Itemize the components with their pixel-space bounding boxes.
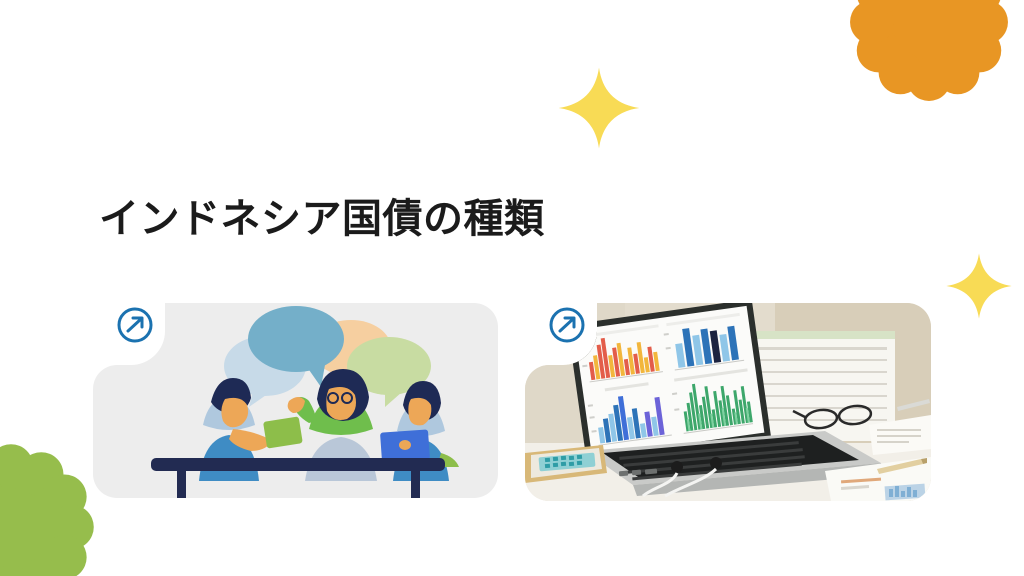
arrow-up-right-circle-icon[interactable]	[547, 305, 587, 345]
orange-flower-blob	[845, 0, 1013, 106]
page-title: インドネシア国債の種類	[99, 194, 545, 244]
arrow-up-right-circle-icon[interactable]	[115, 305, 155, 345]
yellow-sparkle-top-icon	[557, 66, 641, 150]
yellow-sparkle-right-icon	[945, 252, 1013, 320]
green-flower-blob	[0, 438, 100, 576]
slide-canvas: インドネシア国債の種類	[0, 0, 1024, 576]
